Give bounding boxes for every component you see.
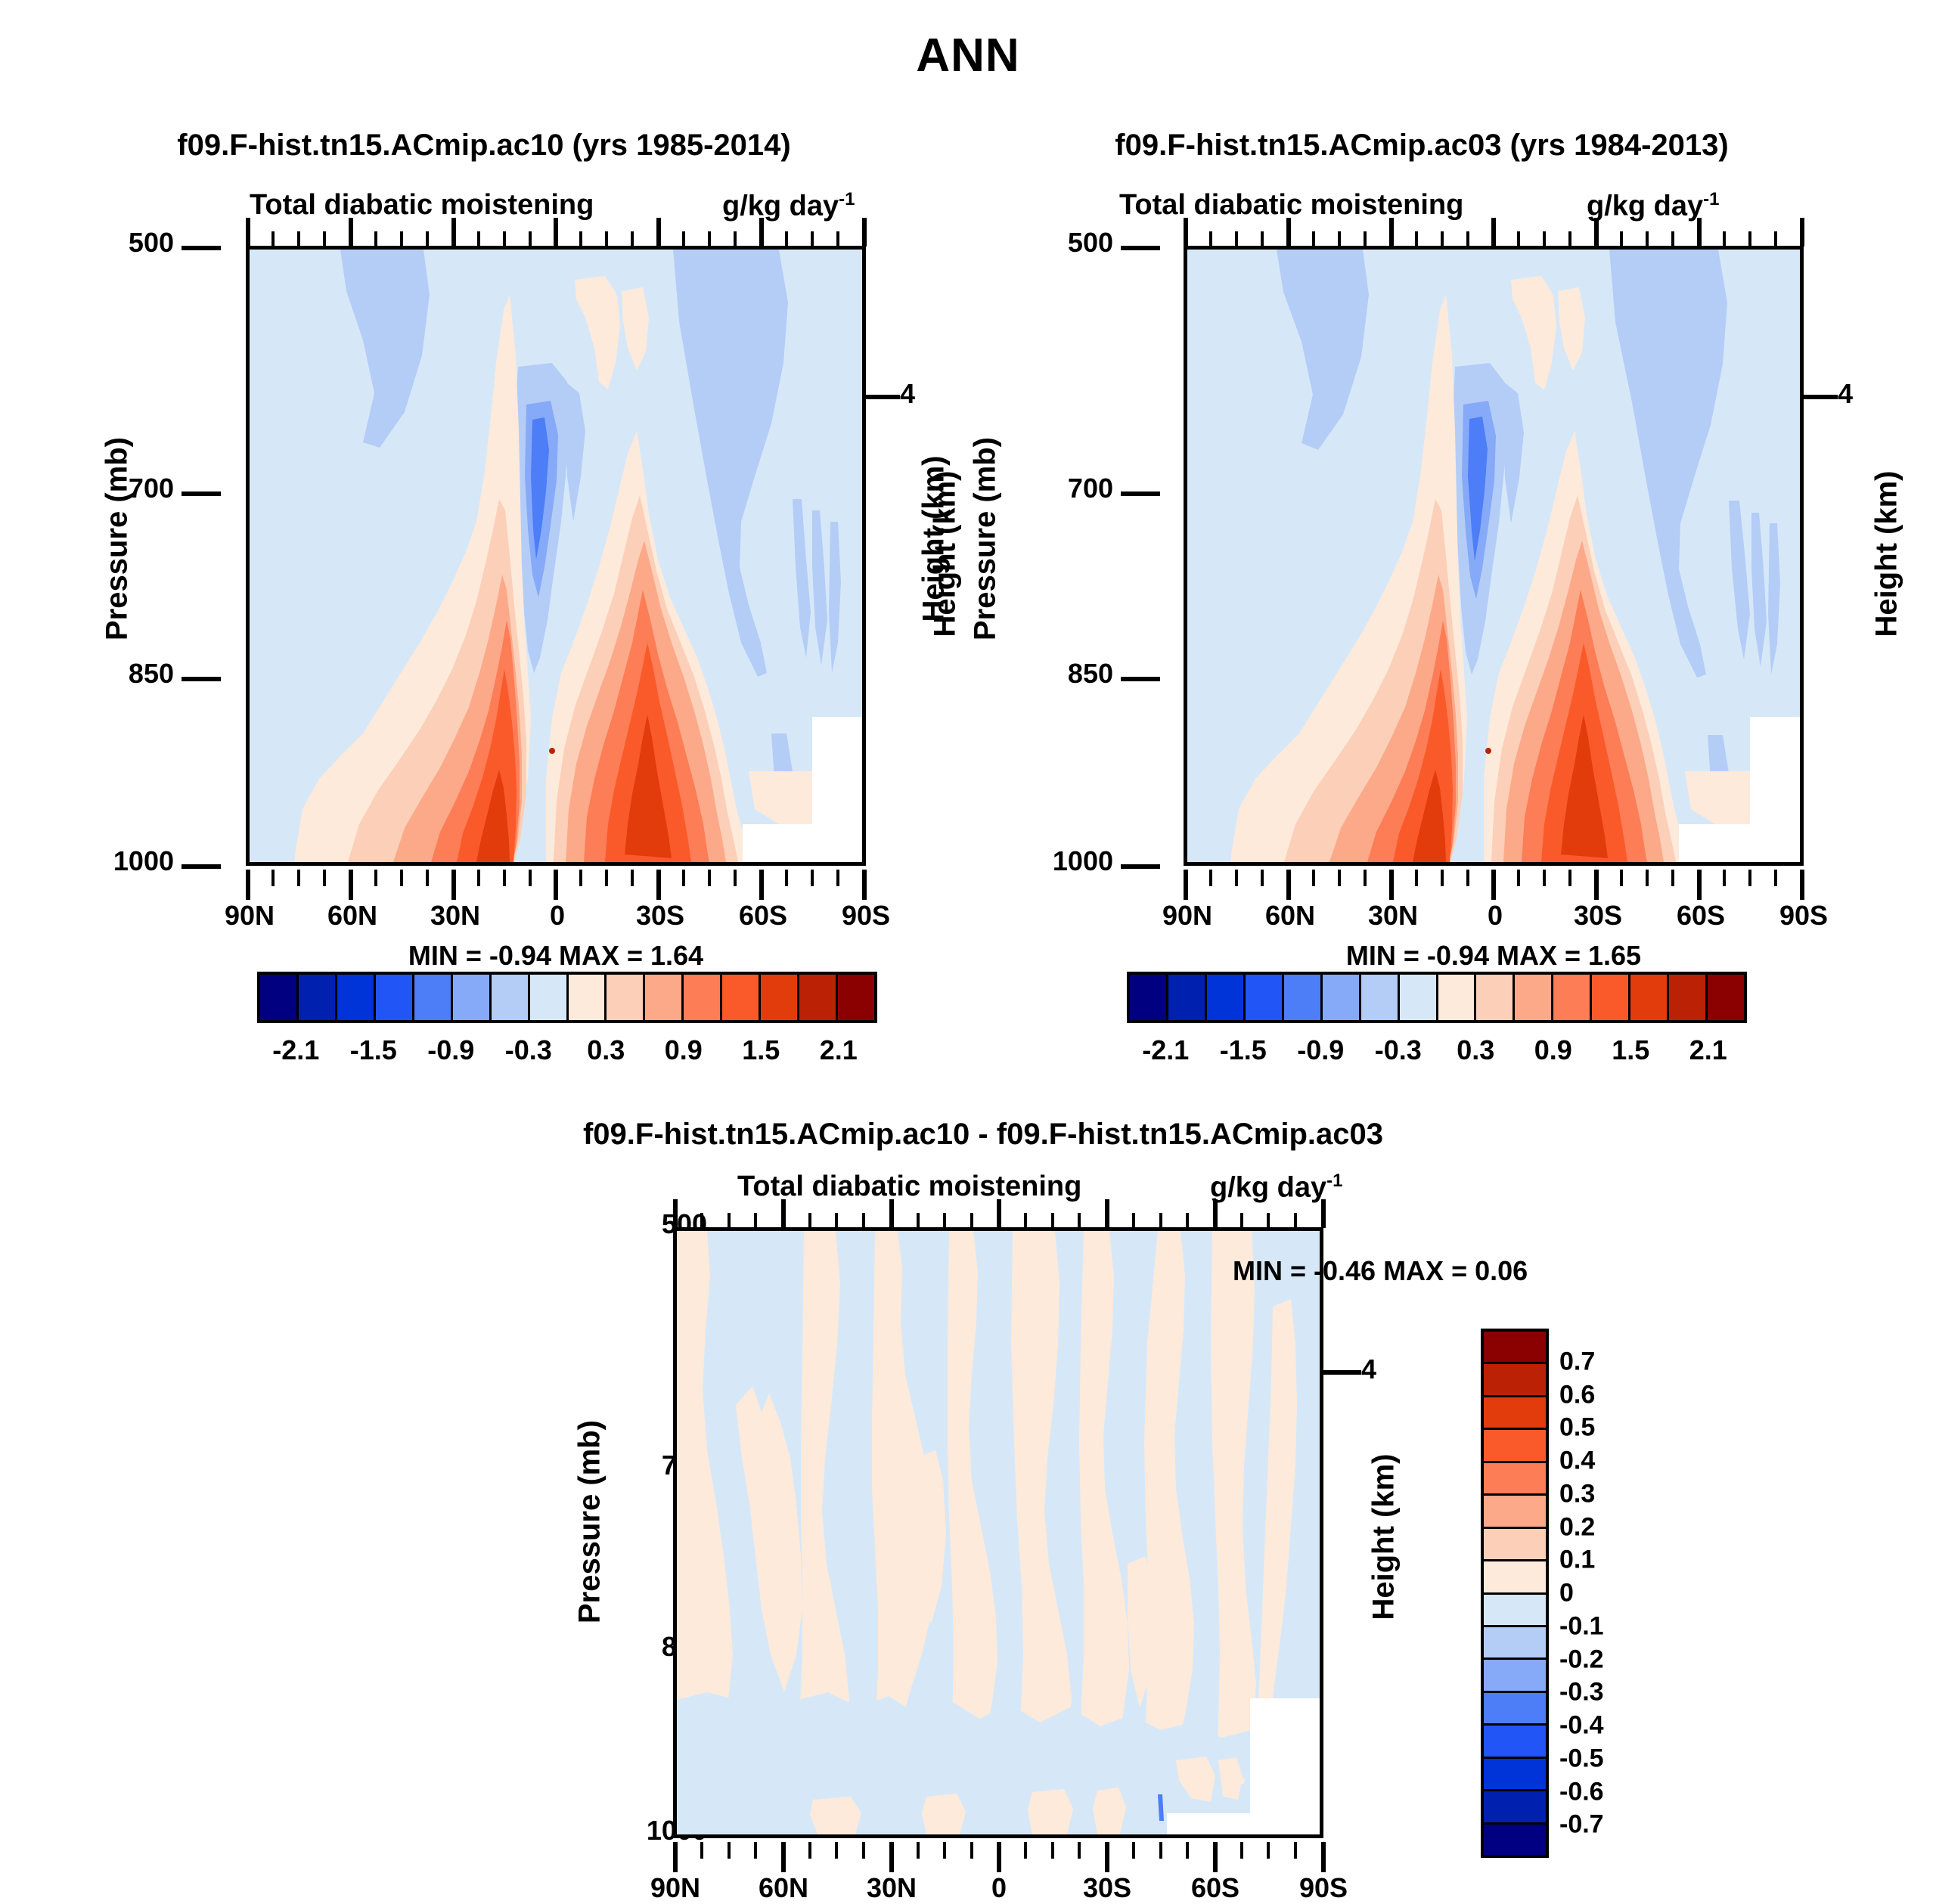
panel-left-height-tick-mark-4	[862, 395, 900, 399]
colorbar-cell-6	[492, 975, 530, 1020]
colorbar-cell-12	[1592, 975, 1630, 1020]
colorbar-label-1.5: 1.5	[1612, 1034, 1649, 1066]
panel-left-ytick-700: 700	[83, 473, 174, 504]
colorbar-cell-6	[1361, 975, 1400, 1020]
colorbar-label-0.3: 0.3	[587, 1034, 625, 1066]
colorbar-cell-10	[1515, 975, 1553, 1020]
panel-right-xtick-0: 0	[1446, 900, 1544, 932]
panel-right-ytick-850: 850	[1022, 658, 1113, 690]
diff-colorbar-cell-3	[1484, 1430, 1546, 1462]
colorbar-label-2.1: 2.1	[820, 1034, 858, 1066]
panel-left-field-name: Total diabatic moistening	[250, 189, 594, 222]
panel-left-ytick-500: 500	[83, 227, 174, 259]
panel-left-title: f09.F-hist.tn15.ACmip.ac10 (yrs 1985-201…	[106, 129, 862, 163]
panel-right-xtick-90S: 90S	[1754, 900, 1853, 932]
colorbar-label-2.1: 2.1	[1689, 1034, 1727, 1066]
colorbar-label--0.9: -0.9	[1297, 1034, 1344, 1066]
diff-colorbar-cell-9	[1484, 1627, 1546, 1660]
diff-colorbar-cell-15	[1484, 1825, 1546, 1855]
colorbar-label--2.1: -2.1	[1142, 1034, 1189, 1066]
panel-right-contour-field	[1187, 250, 1800, 862]
panel-right-ytick-500: 500	[1022, 227, 1113, 259]
panel-right-minmax: MIN = -0.94 MAX = 1.65	[1184, 940, 1804, 972]
colorbar-cell-7	[530, 975, 569, 1020]
colorbar-cell-8	[1438, 975, 1477, 1020]
panel-right-xtick-60N: 60N	[1241, 900, 1339, 932]
units-exponent: -1	[1703, 189, 1719, 209]
units-exponent: -1	[1326, 1171, 1342, 1191]
diff-colorbar-label-0.4: 0.4	[1559, 1447, 1595, 1476]
colorbar-cell-2	[337, 975, 376, 1020]
panel-right-ytick-700: 700	[1022, 473, 1113, 504]
panel-diff-xtick-30N: 30N	[842, 1872, 941, 1904]
panel-right-ylabel-height: Height (km)	[1870, 403, 1904, 705]
panel-right-xtick-30N: 30N	[1344, 900, 1442, 932]
diff-colorbar-cell-6	[1484, 1529, 1546, 1561]
panel-left-xtick-30S: 30S	[611, 900, 709, 932]
diff-colorbar-cell-12	[1484, 1726, 1546, 1758]
colorbar-cell-8	[569, 975, 607, 1020]
panel-diff-ylabel-height: Height (km)	[1367, 1386, 1401, 1688]
panel-diff-height-tick-4: 4	[1361, 1354, 1422, 1385]
panel-right-ytick-mark-500	[1121, 246, 1160, 250]
diff-colorbar-cell-7	[1484, 1561, 1546, 1594]
diff-colorbar-label--0.1: -0.1	[1559, 1611, 1604, 1641]
diff-colorbar-cell-13	[1484, 1759, 1546, 1791]
colorbar-label-0.9: 0.9	[1534, 1034, 1572, 1066]
diff-colorbar-label--0.3: -0.3	[1559, 1678, 1604, 1707]
diff-colorbar-label--0.2: -0.2	[1559, 1645, 1604, 1674]
colorbar-label--1.5: -1.5	[1220, 1034, 1267, 1066]
panel-left-ytick-mark-1000	[181, 864, 221, 869]
panel-left-ylabel-height-outer: Height (km)	[917, 388, 951, 690]
colorbar-label--0.3: -0.3	[505, 1034, 552, 1066]
colorbar-label--0.3: -0.3	[1375, 1034, 1422, 1066]
colorbar-label--1.5: -1.5	[350, 1034, 397, 1066]
colorbar-cell-5	[1323, 975, 1361, 1020]
colorbar-cell-11	[684, 975, 722, 1020]
units-base: g/kg day	[1587, 191, 1703, 222]
panel-diff-colorbar[interactable]	[1481, 1329, 1549, 1858]
diff-colorbar-cell-4	[1484, 1463, 1546, 1496]
panel-right-ytick-mark-1000	[1121, 864, 1160, 869]
panel-diff-xtick-60N: 60N	[734, 1872, 833, 1904]
panel-left-plot-area	[246, 246, 866, 866]
panel-right-ytick-mark-700	[1121, 492, 1160, 496]
colorbar-cell-3	[376, 975, 414, 1020]
panel-left-colorbar[interactable]	[257, 972, 877, 1023]
panel-right-xtick-90N: 90N	[1138, 900, 1236, 932]
panel-left-xtick-60N: 60N	[303, 900, 402, 932]
panel-left-ytick-mark-500	[181, 246, 221, 250]
panel-right-colorbar[interactable]	[1127, 972, 1747, 1023]
panel-diff-xtick-30S: 30S	[1058, 1872, 1156, 1904]
diff-colorbar-label--0.7: -0.7	[1559, 1810, 1604, 1840]
panel-right-plot-area	[1184, 246, 1804, 866]
diff-colorbar-label-0.7: 0.7	[1559, 1347, 1595, 1376]
colorbar-cell-2	[1207, 975, 1246, 1020]
panel-left-ylabel-pressure: Pressure (mb)	[101, 388, 135, 690]
colorbar-cell-12	[722, 975, 761, 1020]
colorbar-label-0.3: 0.3	[1457, 1034, 1494, 1066]
panel-diff-field-name: Total diabatic moistening	[737, 1171, 1081, 1203]
panel-left-xtick-90S: 90S	[817, 900, 915, 932]
panel-diff-colorbar-labels: 0.70.60.50.40.30.20.10-0.1-0.2-0.3-0.4-0…	[1559, 1329, 1711, 1858]
panel-left-xtick-0: 0	[508, 900, 607, 932]
colorbar-cell-13	[761, 975, 799, 1020]
panel-diff-contour-field	[677, 1231, 1320, 1834]
diff-colorbar-cell-1	[1484, 1364, 1546, 1397]
panel-diff-plot-area	[673, 1227, 1323, 1838]
panel-left-xtick-60S: 60S	[714, 900, 812, 932]
diff-colorbar-label-0: 0	[1559, 1579, 1574, 1608]
diff-colorbar-label--0.4: -0.4	[1559, 1711, 1604, 1741]
colorbar-cell-4	[414, 975, 453, 1020]
panel-diff-xtick-90N: 90N	[626, 1872, 724, 1904]
figure-suptitle: ANN	[0, 29, 1936, 82]
diff-colorbar-label--0.5: -0.5	[1559, 1744, 1604, 1773]
colorbar-cell-0	[1130, 975, 1168, 1020]
diff-colorbar-cell-5	[1484, 1496, 1546, 1528]
diff-colorbar-label-0.2: 0.2	[1559, 1512, 1595, 1542]
units-exponent: -1	[839, 189, 855, 209]
colorbar-cell-5	[453, 975, 492, 1020]
panel-diff-title: f09.F-hist.tn15.ACmip.ac10 - f09.F-hist.…	[476, 1118, 1490, 1152]
units-base: g/kg day	[1210, 1172, 1326, 1204]
diff-colorbar-label--0.6: -0.6	[1559, 1777, 1604, 1806]
units-base: g/kg day	[722, 191, 839, 222]
panel-right-xtick-30S: 30S	[1549, 900, 1647, 932]
panel-left-ytick-1000: 1000	[72, 845, 174, 877]
colorbar-cell-4	[1284, 975, 1323, 1020]
colorbar-cell-14	[1669, 975, 1708, 1020]
panel-left-colorbar-labels: -2.1-1.5-0.9-0.30.30.91.52.1	[257, 1034, 877, 1069]
panel-left-minmax: MIN = -0.94 MAX = 1.64	[246, 940, 866, 972]
colorbar-cell-1	[299, 975, 337, 1020]
diff-colorbar-cell-0	[1484, 1332, 1546, 1364]
diff-colorbar-cell-2	[1484, 1397, 1546, 1430]
panel-left-contour-field	[250, 250, 862, 862]
panel-left-xtick-90N: 90N	[200, 900, 299, 932]
colorbar-cell-13	[1630, 975, 1669, 1020]
colorbar-cell-1	[1168, 975, 1207, 1020]
colorbar-cell-11	[1553, 975, 1592, 1020]
colorbar-cell-0	[260, 975, 299, 1020]
colorbar-label--0.9: -0.9	[427, 1034, 474, 1066]
panel-right-height-tick-mark-4	[1800, 395, 1838, 399]
diff-colorbar-label-0.3: 0.3	[1559, 1479, 1595, 1509]
panel-diff-xtick-90S: 90S	[1274, 1872, 1373, 1904]
colorbar-label-1.5: 1.5	[742, 1034, 780, 1066]
panel-left-ytick-850: 850	[83, 658, 174, 690]
colorbar-cell-7	[1400, 975, 1438, 1020]
panel-diff-ylabel-pressure: Pressure (mb)	[573, 1371, 607, 1673]
colorbar-label-0.9: 0.9	[665, 1034, 703, 1066]
diff-colorbar-label-0.6: 0.6	[1559, 1380, 1595, 1409]
panel-right-xtick-60S: 60S	[1652, 900, 1750, 932]
panel-right-ytick-mark-850	[1121, 677, 1160, 681]
colorbar-cell-15	[838, 975, 874, 1020]
colorbar-cell-9	[1476, 975, 1515, 1020]
diff-colorbar-label-0.5: 0.5	[1559, 1413, 1595, 1443]
colorbar-cell-3	[1246, 975, 1284, 1020]
colorbar-cell-14	[799, 975, 838, 1020]
panel-diff-xtick-60S: 60S	[1166, 1872, 1264, 1904]
colorbar-label--2.1: -2.1	[272, 1034, 319, 1066]
diff-colorbar-cell-10	[1484, 1660, 1546, 1692]
panel-left-ytick-mark-850	[181, 677, 221, 681]
colorbar-cell-15	[1708, 975, 1744, 1020]
panel-left-units: g/kg day-1	[722, 189, 855, 223]
colorbar-cell-9	[607, 975, 645, 1020]
panel-right-title: f09.F-hist.tn15.ACmip.ac03 (yrs 1984-201…	[1044, 129, 1800, 163]
diff-colorbar-cell-8	[1484, 1595, 1546, 1627]
diff-colorbar-cell-14	[1484, 1791, 1546, 1824]
panel-right-field-name: Total diabatic moistening	[1119, 189, 1463, 222]
panel-right-height-tick-4: 4	[1838, 378, 1898, 410]
panel-right-ylabel-pressure: Pressure (mb)	[969, 388, 1003, 690]
panel-diff-minmax: MIN = -0.46 MAX = 0.06	[1233, 1255, 1762, 1287]
panel-right-ytick-1000: 1000	[1011, 845, 1113, 877]
panel-diff-height-tick-mark-4	[1323, 1370, 1361, 1375]
diff-colorbar-label-0.1: 0.1	[1559, 1546, 1595, 1575]
panel-diff-xtick-0: 0	[950, 1872, 1048, 1904]
panel-left-ytick-mark-700	[181, 492, 221, 496]
diff-colorbar-cell-11	[1484, 1693, 1546, 1726]
colorbar-cell-10	[645, 975, 684, 1020]
panel-left-xtick-30N: 30N	[406, 900, 504, 932]
panel-right-colorbar-labels: -2.1-1.5-0.9-0.30.30.91.52.1	[1127, 1034, 1747, 1069]
